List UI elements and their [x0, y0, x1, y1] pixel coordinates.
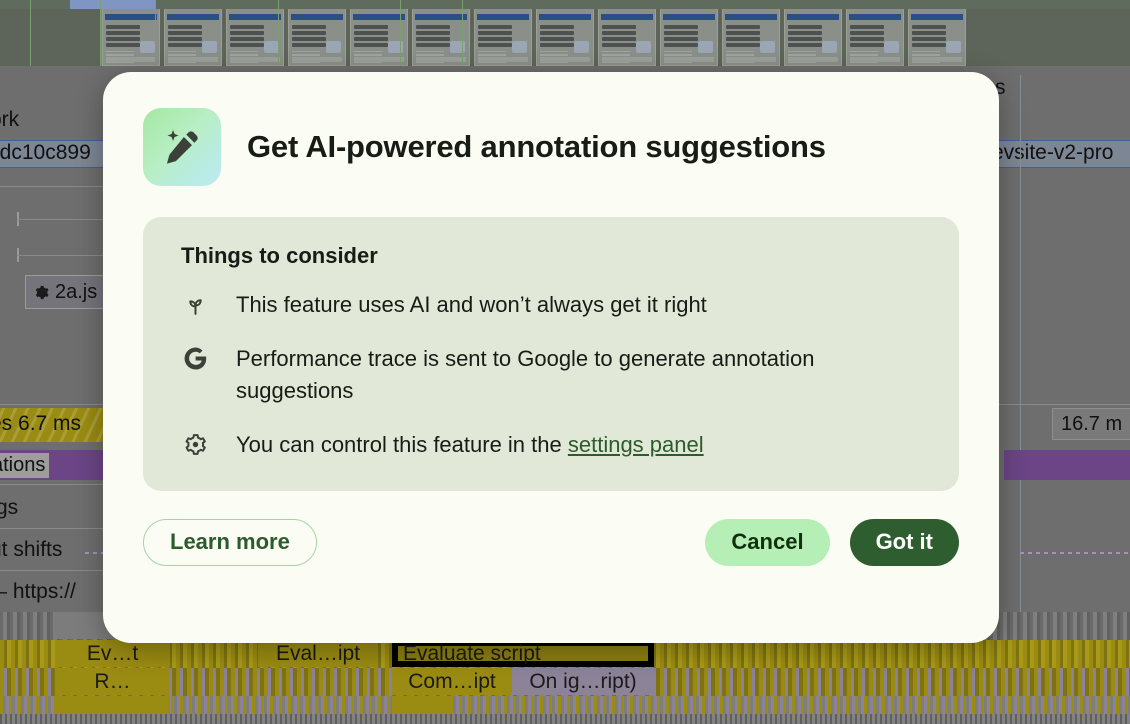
- url-label: — https://: [0, 580, 76, 604]
- filmstrip-spacer: [0, 0, 31, 66]
- gridline: [1020, 75, 1021, 640]
- settings-panel-link[interactable]: settings panel: [568, 432, 704, 457]
- thumb-image: [264, 41, 279, 53]
- flame-block-label: R…: [94, 670, 130, 694]
- filmstrip-selection[interactable]: [70, 0, 155, 9]
- thumb-image: [512, 41, 527, 53]
- thumb-footer: [664, 57, 714, 62]
- list-item: You can control this feature in the sett…: [181, 429, 921, 461]
- filmstrip-spacer: [31, 0, 102, 66]
- thumb-title: [354, 25, 388, 47]
- dialog-footer: Learn more Cancel Got it: [143, 519, 959, 566]
- filmstrip-thumbnail[interactable]: [908, 4, 966, 66]
- thumb-footer: [912, 57, 962, 62]
- thumb-image: [636, 41, 651, 53]
- thumb-title: [726, 25, 760, 47]
- animations-band[interactable]: [1004, 450, 1130, 480]
- thumb-title: [292, 25, 326, 47]
- flame-block[interactable]: Eval…ipt: [258, 640, 378, 667]
- filmstrip-thumbnail[interactable]: [288, 4, 346, 66]
- flame-block[interactable]: R…: [55, 668, 170, 695]
- list-item: Performance trace is sent to Google to g…: [181, 343, 921, 407]
- animations-label: ations: [0, 453, 49, 478]
- filmstrip-gridline: [278, 0, 279, 66]
- list-item-text-prefix: You can control this feature in the: [236, 432, 568, 457]
- thumb-footer: [354, 57, 404, 62]
- script-chip[interactable]: 2a.js: [25, 275, 106, 309]
- thumb-image: [698, 41, 713, 53]
- flame-block[interactable]: Ev…t: [55, 640, 170, 667]
- sprout-icon: [181, 291, 209, 319]
- thumb-image: [884, 41, 899, 53]
- flame-block-label: Ev…t: [87, 642, 138, 666]
- thumb-title: [478, 25, 512, 47]
- filmstrip-thumbnail[interactable]: [784, 4, 842, 66]
- filmstrip-thumbnail[interactable]: [226, 4, 284, 66]
- thumb-header-bar: [725, 14, 777, 20]
- filmstrip-thumbnail[interactable]: [536, 4, 594, 66]
- list-item-text: This feature uses AI and won’t always ge…: [236, 289, 707, 321]
- thumb-header-bar: [849, 14, 901, 20]
- thumb-header-bar: [415, 14, 467, 20]
- thumb-header-bar: [291, 14, 343, 20]
- thumb-title: [416, 25, 450, 47]
- flame-row: R… Com…ipt On ig…ript): [0, 668, 1130, 696]
- flame-block-label: On ig…ript): [529, 670, 636, 694]
- footer-actions: Cancel Got it: [705, 519, 959, 566]
- dialog-header: Get AI-powered annotation suggestions: [103, 72, 999, 186]
- filmstrip-gridline: [30, 0, 31, 66]
- filmstrip-gridline: [462, 0, 463, 66]
- thumb-title: [602, 25, 636, 47]
- things-to-consider-panel: Things to consider This feature uses AI …: [143, 217, 959, 491]
- thumb-header-bar: [787, 14, 839, 20]
- thumb-header-bar: [663, 14, 715, 20]
- network-request-label: 5dc10c899: [0, 141, 91, 165]
- flame-block-label: Com…ipt: [408, 670, 496, 694]
- google-g-icon: [181, 345, 209, 373]
- thumb-image: [202, 41, 217, 53]
- thumb-image: [822, 41, 837, 53]
- thumb-title: [106, 25, 140, 47]
- flame-ruler: [0, 714, 1130, 724]
- filmstrip[interactable]: [0, 0, 1130, 66]
- sparkle-pencil-icon: [143, 108, 221, 186]
- thumb-footer: [540, 57, 590, 62]
- divider: [0, 484, 120, 485]
- thumb-header-bar: [477, 14, 529, 20]
- thumb-header-bar: [167, 14, 219, 20]
- duration-right-label: 16.7 m: [1061, 413, 1122, 436]
- gear-icon: [181, 431, 209, 459]
- list-item-text: Performance trace is sent to Google to g…: [236, 343, 876, 407]
- filmstrip-thumbnail[interactable]: [474, 4, 532, 66]
- flame-block-label: Evaluate script: [403, 642, 541, 666]
- thumb-footer: [850, 57, 900, 62]
- filmstrip-thumbnail[interactable]: [846, 4, 904, 66]
- thumb-header-bar: [601, 14, 653, 20]
- flame-block[interactable]: Com…ipt: [392, 668, 512, 695]
- gear-icon: [34, 285, 49, 300]
- filmstrip-thumbnail[interactable]: [598, 4, 656, 66]
- filmstrip-thumbnail[interactable]: [660, 4, 718, 66]
- thumb-image: [326, 41, 341, 53]
- thumb-title: [788, 25, 822, 47]
- thumb-header-bar: [105, 14, 157, 20]
- thumb-title: [664, 25, 698, 47]
- thumb-image: [760, 41, 775, 53]
- thumb-footer: [230, 57, 280, 62]
- things-to-consider-heading: Things to consider: [181, 243, 921, 269]
- flame-block-label: Eval…ipt: [276, 642, 360, 666]
- thumb-footer: [106, 57, 156, 62]
- thumb-title: [230, 25, 264, 47]
- thumb-footer: [602, 57, 652, 62]
- dialog-title: Get AI-powered annotation suggestions: [247, 129, 826, 165]
- thumb-footer: [788, 57, 838, 62]
- thumb-header-bar: [353, 14, 405, 20]
- list-item-text: You can control this feature in the sett…: [236, 429, 704, 461]
- filmstrip-thumbnail[interactable]: [722, 4, 780, 66]
- thumb-footer: [726, 57, 776, 62]
- thumb-header-bar: [229, 14, 281, 20]
- thumb-image: [946, 41, 961, 53]
- filmstrip-gridline: [400, 0, 401, 66]
- thumb-title: [540, 25, 574, 47]
- thumb-header-bar: [911, 14, 963, 20]
- cancel-button[interactable]: Cancel: [705, 519, 829, 566]
- ai-annotation-suggestions-dialog: Get AI-powered annotation suggestions Th…: [103, 72, 999, 643]
- network-section-label: ork: [0, 108, 19, 132]
- thumb-header-bar: [539, 14, 591, 20]
- script-chip-label: 2a.js: [55, 281, 97, 304]
- thumb-footer: [416, 57, 466, 62]
- duration-left-label: es 6.7 ms: [0, 412, 81, 436]
- thumb-title: [912, 25, 946, 47]
- timings-label: gs: [0, 496, 18, 520]
- filmstrip-gridline: [155, 0, 156, 66]
- filmstrip-top-bar: [0, 0, 1130, 9]
- right-request-label: evsite-v2-pro: [992, 141, 1113, 165]
- filmstrip-thumbnail[interactable]: [102, 4, 160, 66]
- filmstrip-thumbnail[interactable]: [164, 4, 222, 66]
- consider-list: This feature uses AI and won’t always ge…: [181, 289, 921, 461]
- flame-block-selected[interactable]: Evaluate script: [392, 640, 654, 667]
- thumb-footer: [292, 57, 342, 62]
- thumb-image: [574, 41, 589, 53]
- flame-row: Ev…t Eval…ipt Evaluate script: [0, 640, 1130, 668]
- thumb-title: [168, 25, 202, 47]
- thumb-title: [850, 25, 884, 47]
- duration-right-chip: 16.7 m: [1052, 408, 1130, 440]
- thumb-footer: [168, 57, 218, 62]
- flame-block[interactable]: On ig…ript): [512, 668, 654, 695]
- layout-shifts-label: ut shifts: [0, 538, 62, 562]
- layout-shift-marker: [1020, 552, 1130, 554]
- thumb-image: [140, 41, 155, 53]
- learn-more-button[interactable]: Learn more: [143, 519, 317, 566]
- got-it-button[interactable]: Got it: [850, 519, 959, 566]
- list-item: This feature uses AI and won’t always ge…: [181, 289, 921, 321]
- filmstrip-gridline: [100, 0, 101, 66]
- divider: [0, 528, 120, 529]
- thumb-footer: [478, 57, 528, 62]
- divider: [0, 570, 120, 571]
